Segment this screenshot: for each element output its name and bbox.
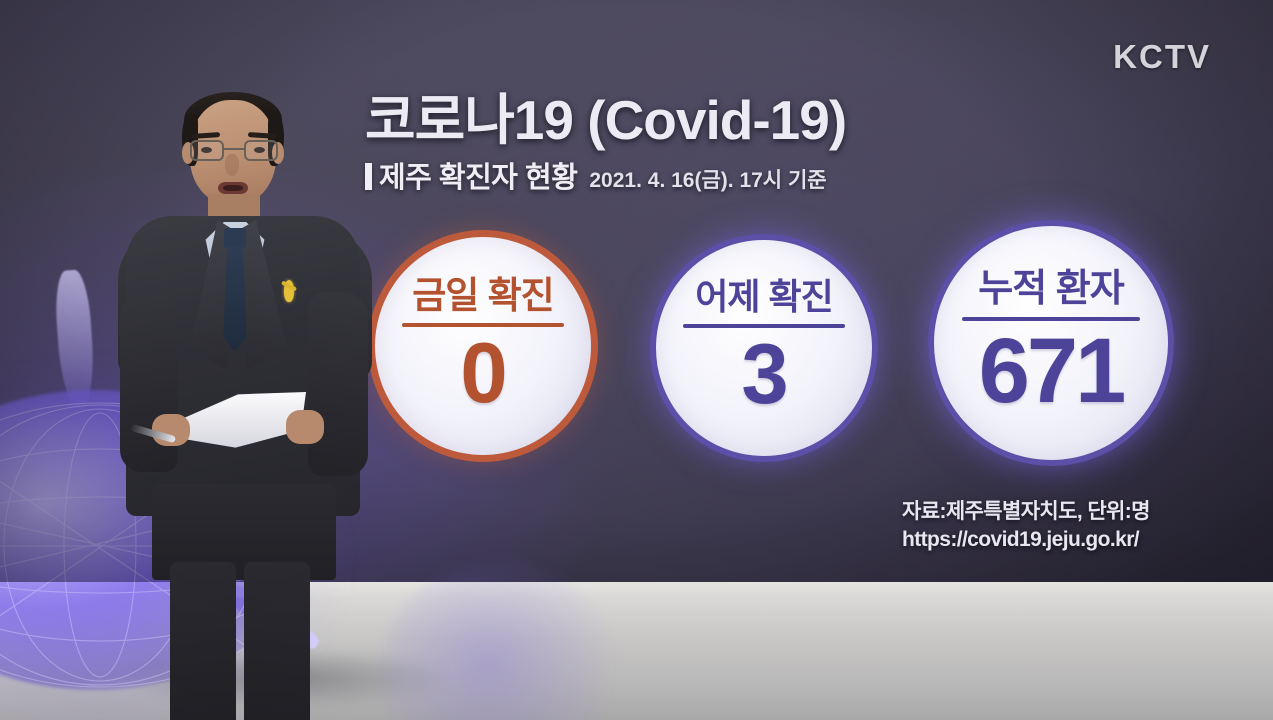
glasses-lens <box>190 140 224 161</box>
anchor-hand <box>286 410 324 444</box>
glasses-lens <box>244 140 278 161</box>
subtitle-row: 제주 확진자 현황 2021. 4. 16(금). 17시 기준 <box>365 154 985 196</box>
title-block: 코로나19 (Covid-19) 제주 확진자 현황 2021. 4. 16(금… <box>365 92 985 196</box>
stat-circle-today: 금일 확진 0 <box>368 230 598 462</box>
stat-value-yesterday: 3 <box>741 332 786 417</box>
broadcast-screenshot: KCTV 코로나19 (Covid-19) 제주 확진자 현황 2021. 4.… <box>0 0 1273 720</box>
stat-circle-yesterday: 어제 확진 3 <box>650 234 878 462</box>
stat-label-yesterday: 어제 확진 <box>695 279 832 315</box>
report-timestamp: 2021. 4. 16(금). 17시 기준 <box>589 164 826 194</box>
glasses-bridge <box>224 148 244 150</box>
news-anchor <box>118 92 378 720</box>
stat-circle-cumulative: 누적 환자 671 <box>928 220 1174 466</box>
anchor-leg <box>170 562 236 720</box>
kctv-logo: KCTV <box>1113 38 1211 76</box>
stat-value-today: 0 <box>460 331 505 416</box>
source-line-url: https://covid19.jeju.go.kr/ <box>902 526 1150 554</box>
anchor-tie-knot <box>224 228 246 248</box>
stat-label-today: 금일 확진 <box>412 277 553 314</box>
source-note: 자료:제주특별자치도, 단위:명 https://covid19.jeju.go… <box>902 498 1150 555</box>
page-title: 코로나19 (Covid-19) <box>365 92 985 149</box>
anchor-leg <box>244 562 310 720</box>
stat-label-cumulative: 누적 환자 <box>978 270 1123 308</box>
anchor-mouth-inner <box>223 185 243 191</box>
source-line-agency: 자료:제주특별자치도, 단위:명 <box>902 498 1150 526</box>
anchor-arm <box>308 292 368 476</box>
stat-value-cumulative: 671 <box>979 325 1124 417</box>
subtitle: 제주 확진자 현황 <box>379 154 577 196</box>
anchor-nose <box>225 154 239 176</box>
